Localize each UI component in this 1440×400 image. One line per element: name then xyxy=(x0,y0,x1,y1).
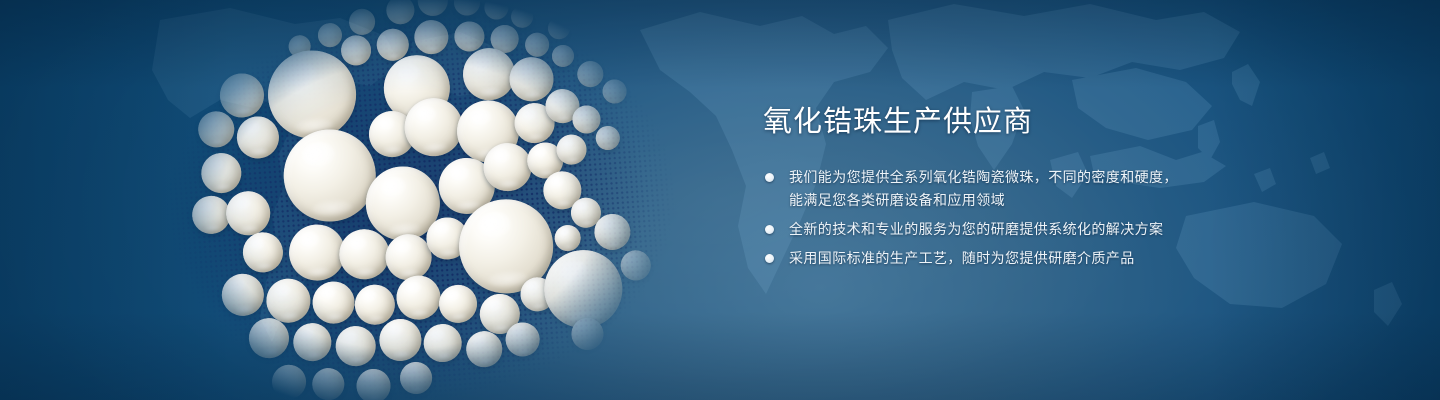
bullet-dot-icon xyxy=(765,225,774,234)
list-item-line: 采用国际标准的生产工艺，随时为您提供研磨介质产品 xyxy=(789,247,1283,270)
list-item-line: 我们能为您提供全系列氧化锆陶瓷微珠，不同的密度和硬度， xyxy=(789,166,1283,189)
hero-banner: 氧化锆珠生产供应商 我们能为您提供全系列氧化锆陶瓷微珠，不同的密度和硬度， 能满… xyxy=(0,0,1440,400)
bullet-dot-icon xyxy=(765,173,774,182)
list-item-line: 全新的技术和专业的服务为您的研磨提供系统化的解决方案 xyxy=(789,218,1283,241)
feature-list: 我们能为您提供全系列氧化锆陶瓷微珠，不同的密度和硬度， 能满足您各类研磨设备和应… xyxy=(763,166,1283,270)
bullet-dot-icon xyxy=(765,254,774,263)
banner-content: 氧化锆珠生产供应商 我们能为您提供全系列氧化锆陶瓷微珠，不同的密度和硬度， 能满… xyxy=(763,104,1283,276)
list-item: 全新的技术和专业的服务为您的研磨提供系统化的解决方案 xyxy=(763,218,1283,241)
list-item-line: 能满足您各类研磨设备和应用领域 xyxy=(789,189,1283,212)
list-item: 采用国际标准的生产工艺，随时为您提供研磨介质产品 xyxy=(763,247,1283,270)
page-title: 氧化锆珠生产供应商 xyxy=(763,104,1283,140)
list-item: 我们能为您提供全系列氧化锆陶瓷微珠，不同的密度和硬度， 能满足您各类研磨设备和应… xyxy=(763,166,1283,212)
